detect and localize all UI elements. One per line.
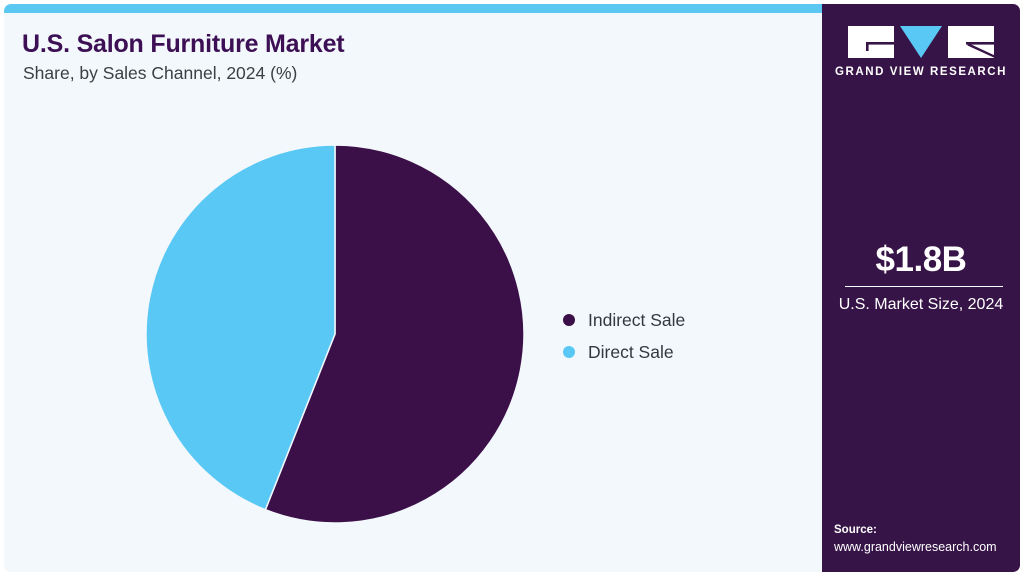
logo-svg	[848, 26, 994, 58]
page-subtitle: Share, by Sales Channel, 2024 (%)	[23, 63, 297, 84]
legend-item-indirect-sale[interactable]: Indirect Sale	[563, 304, 685, 336]
logo-letterforms	[848, 26, 994, 58]
logo-letter-v-icon	[900, 26, 942, 58]
pie-chart	[142, 139, 532, 529]
legend-label: Direct Sale	[588, 342, 674, 363]
sidebar-panel: GRAND VIEW RESEARCH $1.8B U.S. Market Si…	[822, 4, 1020, 572]
logo-letter-g-icon	[848, 26, 896, 58]
logo-wordmark: GRAND VIEW RESEARCH	[822, 66, 1020, 78]
legend-swatch-icon	[563, 314, 575, 326]
page-title: U.S. Salon Furniture Market	[22, 30, 344, 59]
source-url[interactable]: www.grandviewresearch.com	[834, 539, 1020, 556]
legend-swatch-icon	[563, 346, 575, 358]
logo-letter-r-icon	[948, 26, 994, 58]
source-block: Source: www.grandviewresearch.com	[834, 522, 1020, 556]
brand-logo: GRAND VIEW RESEARCH	[822, 26, 1020, 78]
chart-legend: Indirect Sale Direct Sale	[563, 304, 685, 368]
main-panel: U.S. Salon Furniture Market Share, by Sa…	[4, 4, 822, 572]
market-size-caption: U.S. Market Size, 2024	[836, 294, 1006, 315]
infographic-root: U.S. Salon Furniture Market Share, by Sa…	[0, 0, 1025, 576]
stat-divider	[845, 286, 1003, 287]
source-label: Source:	[834, 522, 1020, 539]
legend-label: Indirect Sale	[588, 310, 685, 331]
pie-chart-svg	[142, 139, 532, 529]
market-size-value: $1.8B	[822, 240, 1020, 280]
legend-item-direct-sale[interactable]: Direct Sale	[563, 336, 685, 368]
top-accent-strip	[4, 4, 822, 13]
